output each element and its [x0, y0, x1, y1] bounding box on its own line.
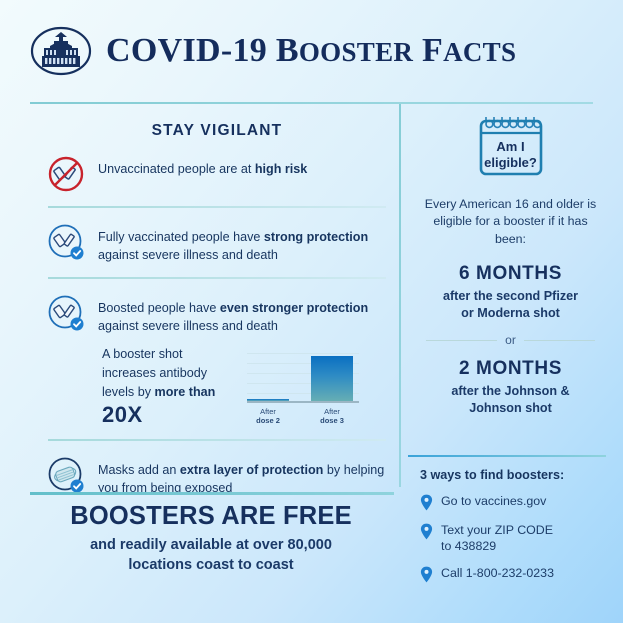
antibody-multiplier: 20X [102, 403, 237, 427]
ways-divider [408, 455, 606, 457]
right-column: Am I eligible? Every American 16 and old… [408, 112, 613, 417]
or-line-right [524, 340, 595, 341]
way-item-phone[interactable]: Call 1-800-232-0233 [420, 565, 615, 583]
option-1-title: 6 MONTHS [408, 263, 613, 285]
fact-text-after: against severe illness and death [98, 248, 278, 262]
antibody-bar-chart: After dose 2 After dose 3 [247, 351, 359, 426]
fact-item-masks: Masks add an extra layer of protection b… [30, 441, 390, 498]
fact-item-unvaccinated: Unvaccinated people are at high risk [30, 140, 390, 194]
find-boosters-section: 3 ways to find boosters: Go to vaccines.… [420, 468, 615, 583]
no-vaccine-icon [46, 154, 86, 194]
map-pin-icon [420, 566, 433, 583]
option-1-line2: or Moderna shot [461, 306, 560, 320]
infographic-page: COVID-19 BOOSTER FACTS STAY VIGILANT Unv… [0, 0, 623, 623]
or-line-left [426, 340, 497, 341]
title-part-mid: F [413, 32, 443, 69]
white-house-seal-icon [30, 26, 92, 76]
title-part-main: COVID-19 B [106, 32, 299, 69]
chart-x-label-dose2: After dose 2 [247, 407, 289, 426]
banner-divider [30, 492, 394, 495]
fact-text-boosted: Boosted people have even stronger protec… [98, 293, 390, 336]
column-divider [399, 104, 401, 487]
header: COVID-19 BOOSTER FACTS [0, 0, 623, 76]
notepad-line-2: eligible? [408, 155, 613, 171]
chart-bar-dose3 [311, 356, 353, 401]
fact-item-boosted: Boosted people have even stronger protec… [30, 279, 390, 336]
boosters-free-banner: BOOSTERS ARE FREE and readily available … [20, 502, 402, 575]
vaccine-check-icon [46, 222, 86, 262]
item-divider [48, 277, 386, 279]
fact-text-unvaccinated: Unvaccinated people are at high risk [98, 154, 307, 178]
chart-x-label-line2: dose 3 [311, 416, 353, 425]
option-1-subtext: after the second Pfizer or Moderna shot [408, 288, 613, 322]
antibody-text-bold: more than [155, 385, 216, 399]
option-1-line1: after the second Pfizer [443, 289, 578, 303]
fact-text-before: Fully vaccinated people have [98, 230, 264, 244]
chart-x-labels: After dose 2 After dose 3 [247, 407, 359, 426]
fact-item-vaccinated: Fully vaccinated people have strong prot… [30, 208, 390, 265]
fact-text-masks: Masks add an extra layer of protection b… [98, 455, 390, 498]
booster-check-icon [46, 293, 86, 333]
banner-headline: BOOSTERS ARE FREE [20, 502, 402, 531]
title-part-booster: OOSTER [299, 37, 413, 67]
eligibility-intro: Every American 16 and older is eligible … [422, 196, 599, 250]
fact-text-bold: strong protection [264, 230, 368, 244]
fact-text-before: Masks add an [98, 463, 180, 477]
section-title-stay-vigilant: STAY VIGILANT [30, 122, 390, 140]
left-column: STAY VIGILANT Unvaccinated people are at… [30, 112, 390, 497]
fact-text-bold: high risk [255, 162, 307, 176]
option-2-line2: Johnson shot [469, 401, 552, 415]
antibody-stat-text: A booster shot increases antibody levels… [102, 345, 237, 427]
item-divider [48, 439, 386, 441]
way-text-phone: Call 1-800-232-0233 [441, 565, 554, 581]
banner-subtext-line2: locations coast to coast [128, 557, 293, 573]
ways-title: 3 ways to find boosters: [420, 468, 615, 482]
way-line2: to 438829 [441, 539, 496, 553]
header-divider [30, 102, 593, 104]
chart-x-label-line1: After [324, 407, 340, 416]
fact-text-bold: extra layer of protection [180, 463, 323, 477]
banner-subtext-line1: and readily available at over 80,000 [90, 537, 332, 553]
chart-bar-dose2 [247, 399, 289, 401]
notepad-line-1: Am I [408, 139, 613, 155]
antibody-stat-block: A booster shot increases antibody levels… [30, 335, 390, 427]
chart-plot-area [247, 351, 359, 401]
option-2-line1: after the Johnson & [451, 384, 569, 398]
way-line1: Text your ZIP CODE [441, 523, 553, 537]
fact-text-vaccinated: Fully vaccinated people have strong prot… [98, 222, 390, 265]
or-divider: or [426, 333, 595, 347]
way-text-website: Go to vaccines.gov [441, 493, 546, 509]
map-pin-icon [420, 523, 433, 540]
or-label: or [505, 333, 516, 347]
chart-x-label-line2: dose 2 [247, 416, 289, 425]
notepad-text: Am I eligible? [408, 139, 613, 172]
option-2-subtext: after the Johnson & Johnson shot [408, 383, 613, 417]
title-part-facts: ACTS [443, 37, 516, 67]
way-line1: Call 1-800-232-0233 [441, 566, 554, 580]
fact-text-after: against severe illness and death [98, 319, 278, 333]
fact-text-before: Unvaccinated people are at [98, 162, 255, 176]
banner-subtext: and readily available at over 80,000 loc… [20, 536, 402, 575]
fact-text-bold: even stronger protection [220, 301, 368, 315]
fact-text-before: Boosted people have [98, 301, 220, 315]
chart-x-label-line1: After [260, 407, 276, 416]
chart-bars [247, 351, 359, 401]
chart-x-label-dose3: After dose 3 [311, 407, 353, 426]
item-divider [48, 206, 386, 208]
map-pin-icon [420, 494, 433, 511]
way-item-website[interactable]: Go to vaccines.gov [420, 493, 615, 511]
way-text-sms: Text your ZIP CODE to 438829 [441, 522, 553, 554]
mask-check-icon [46, 455, 86, 495]
option-2-title: 2 MONTHS [408, 358, 613, 380]
way-item-text[interactable]: Text your ZIP CODE to 438829 [420, 522, 615, 554]
way-line1: Go to vaccines.gov [441, 494, 546, 508]
page-title: COVID-19 BOOSTER FACTS [106, 34, 516, 68]
chart-axis [247, 401, 359, 403]
